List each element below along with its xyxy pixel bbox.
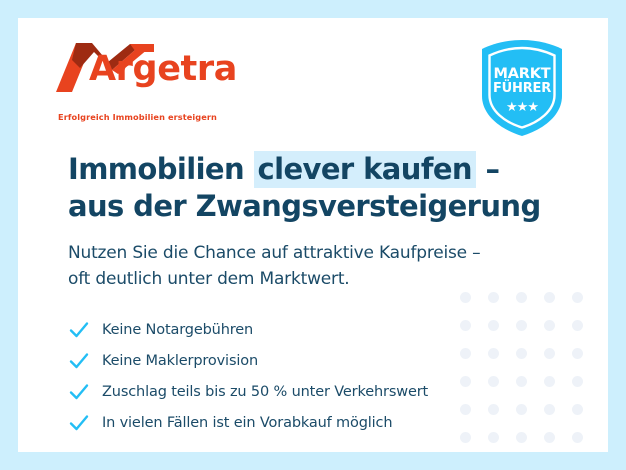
check-icon <box>68 350 90 372</box>
list-item: In vielen Fällen ist ein Vorabkauf mögli… <box>68 407 428 438</box>
check-icon <box>68 381 90 403</box>
decorative-dot <box>544 348 555 359</box>
decorative-dot <box>460 348 471 359</box>
logo-tagline: Erfolgreich Immobilien ersteigern <box>58 112 217 122</box>
subtitle-line1: Nutzen Sie die Chance auf attraktive Kau… <box>68 243 480 263</box>
market-leader-badge: MARKT FÜHRER ★★★ <box>476 38 568 138</box>
decorative-dot <box>516 348 527 359</box>
check-icon <box>68 412 90 434</box>
benefits-list: Keine Notargebühren Keine Maklerprovisio… <box>68 314 428 438</box>
decorative-dot <box>516 432 527 443</box>
argetra-logo[interactable]: Argetra Erfolgreich Immobilien ersteiger… <box>56 40 266 98</box>
dot-grid-decoration <box>448 282 608 452</box>
decorative-dot <box>544 404 555 415</box>
decorative-dot <box>544 292 555 303</box>
decorative-dot <box>572 292 583 303</box>
headline-text-before: Immobilien <box>68 152 254 186</box>
page-title: Immobilien clever kaufen – aus der Zwang… <box>68 151 541 224</box>
decorative-dot <box>572 348 583 359</box>
decorative-dot <box>488 432 499 443</box>
list-item-label: Zuschlag teils bis zu 50 % unter Verkehr… <box>102 384 428 400</box>
subtitle-line2: oft deutlich unter dem Marktwert. <box>68 269 350 289</box>
headline-line2: aus der Zwangsversteigerung <box>68 189 541 223</box>
promo-banner: Argetra Erfolgreich Immobilien ersteiger… <box>0 0 626 470</box>
decorative-dot <box>572 376 583 387</box>
headline-line1: Immobilien clever kaufen – <box>68 151 499 188</box>
decorative-dot <box>460 320 471 331</box>
decorative-dot <box>488 348 499 359</box>
decorative-dot <box>516 404 527 415</box>
decorative-dot <box>572 320 583 331</box>
headline-text-after: – <box>476 152 499 186</box>
decorative-dot <box>516 292 527 303</box>
list-item: Keine Maklerprovision <box>68 345 428 376</box>
logo-wordmark: Argetra <box>89 52 237 87</box>
decorative-dot <box>460 432 471 443</box>
decorative-dot <box>488 292 499 303</box>
shield-badge-icon <box>476 38 568 138</box>
decorative-dot <box>516 320 527 331</box>
list-item-label: Keine Notargebühren <box>102 322 253 338</box>
headline-highlight: clever kaufen <box>254 151 476 188</box>
decorative-dot <box>488 404 499 415</box>
list-item-label: In vielen Fällen ist ein Vorabkauf mögli… <box>102 415 392 431</box>
decorative-dot <box>516 376 527 387</box>
decorative-dot <box>544 320 555 331</box>
list-item: Zuschlag teils bis zu 50 % unter Verkehr… <box>68 376 428 407</box>
decorative-dot <box>488 320 499 331</box>
decorative-dot <box>572 404 583 415</box>
list-item-label: Keine Maklerprovision <box>102 353 258 369</box>
decorative-dot <box>544 376 555 387</box>
check-icon <box>68 319 90 341</box>
decorative-dot <box>488 376 499 387</box>
decorative-dot <box>572 432 583 443</box>
argetra-roof-arrow-icon: Argetra <box>56 40 256 98</box>
list-item: Keine Notargebühren <box>68 314 428 345</box>
subtitle: Nutzen Sie die Chance auf attraktive Kau… <box>68 240 480 293</box>
decorative-dot <box>460 292 471 303</box>
banner-card: Argetra Erfolgreich Immobilien ersteiger… <box>18 18 608 452</box>
decorative-dot <box>460 376 471 387</box>
decorative-dot <box>460 404 471 415</box>
decorative-dot <box>544 432 555 443</box>
